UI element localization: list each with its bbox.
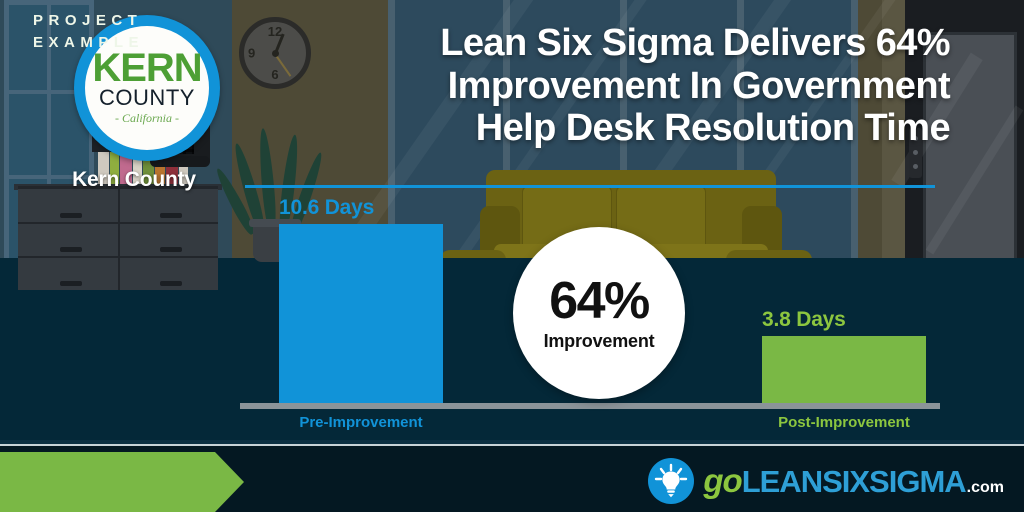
foreground-content: KERN COUNTY - California - Kern County L… bbox=[0, 0, 1024, 512]
logo-word-california: - California - bbox=[115, 111, 179, 126]
goleansixsigma-wordmark: go LEANSIXSIGMA .com bbox=[703, 462, 1004, 500]
bar-post-improvement bbox=[762, 336, 926, 404]
improvement-percent-value: 64% bbox=[549, 275, 649, 327]
page-title: Lean Six Sigma Delivers 64% Improvement … bbox=[270, 22, 950, 150]
bar-pre-improvement bbox=[279, 224, 443, 404]
bar-value-label-pre: 10.6 Days bbox=[279, 196, 479, 220]
project-example-text: PROJECT EXAMPLE bbox=[33, 10, 144, 54]
bar-category-label-pre: Pre-Improvement bbox=[279, 414, 443, 431]
lightbulb-icon bbox=[648, 458, 694, 504]
client-name-label: Kern County bbox=[0, 168, 268, 192]
infographic-canvas: 12 9 6 bbox=[0, 0, 1024, 512]
chart-baseline bbox=[240, 403, 940, 409]
brand-leansixsigma: LEANSIXSIGMA bbox=[742, 464, 966, 500]
project-example-tag bbox=[0, 452, 215, 512]
title-divider bbox=[245, 185, 935, 188]
improvement-badge-label: Improvement bbox=[544, 331, 655, 352]
headline-line-3: Help Desk Resolution Time bbox=[270, 107, 950, 150]
headline-line-2: Improvement In Government bbox=[270, 65, 950, 108]
bar-value-label-post: 3.8 Days bbox=[762, 308, 962, 332]
tag-line-1: PROJECT bbox=[33, 10, 144, 32]
logo-word-county: COUNTY bbox=[99, 86, 195, 109]
brand-go: go bbox=[703, 462, 741, 500]
improvement-badge: 64% Improvement bbox=[513, 227, 685, 399]
tag-line-2: EXAMPLE bbox=[33, 32, 144, 54]
bar-category-label-post: Post-Improvement bbox=[762, 414, 926, 431]
brand-tld: .com bbox=[967, 479, 1004, 497]
goleansixsigma-logo[interactable]: go LEANSIXSIGMA .com bbox=[648, 452, 1004, 510]
logo-word-kern: KERN bbox=[92, 50, 201, 87]
headline-line-1: Lean Six Sigma Delivers 64% bbox=[270, 22, 950, 65]
